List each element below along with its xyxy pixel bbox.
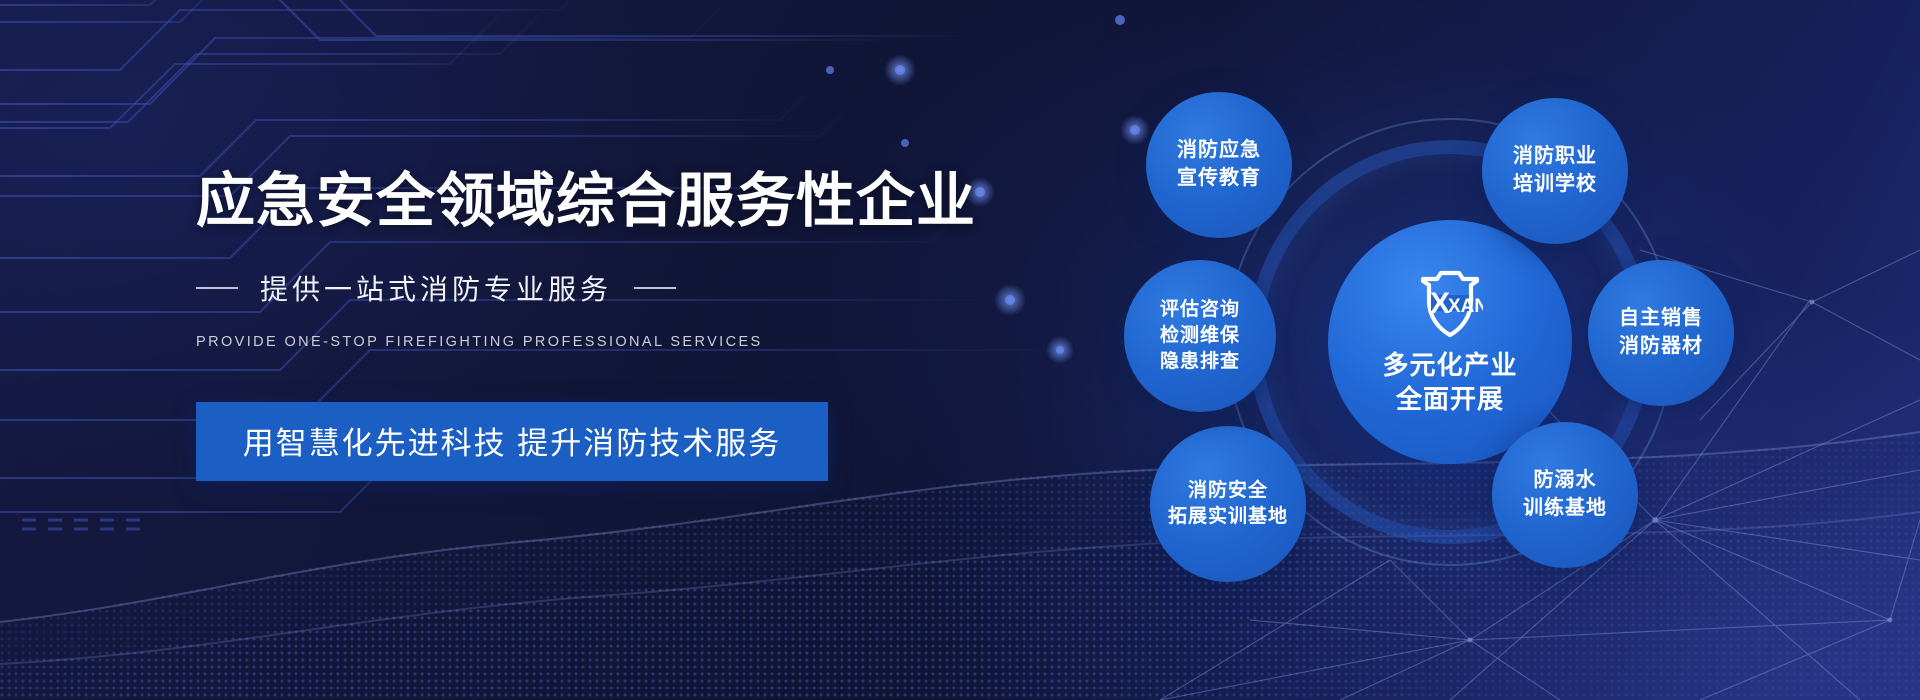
node-line-1: 消防安全: [1188, 478, 1268, 504]
svg-text:XAN: XAN: [1448, 296, 1483, 317]
diagram-node-equipment-sales[interactable]: 自主销售 消防器材: [1588, 260, 1734, 406]
center-line-2: 全面开展: [1396, 383, 1504, 417]
diagram-node-assessment-inspection[interactable]: 评估咨询 检测维保 隐患排查: [1124, 260, 1276, 412]
rule-right-icon: [634, 287, 676, 289]
diagram-node-fire-emergency-education[interactable]: 消防应急 宣传教育: [1146, 92, 1292, 238]
node-line-2: 宣传教育: [1177, 165, 1261, 193]
page-subtitle: 提供一站式消防专业服务: [260, 268, 612, 308]
node-line-1: 消防应急: [1177, 137, 1261, 165]
banner-stage: 应急安全领域综合服务性企业 提供一站式消防专业服务 PROVIDE ONE-ST…: [0, 0, 1920, 700]
node-line-3: 隐患排查: [1160, 349, 1240, 375]
rule-left-icon: [196, 287, 238, 289]
subtitle-row: 提供一站式消防专业服务: [196, 268, 1056, 308]
cta-banner[interactable]: 用智慧化先进科技 提升消防技术服务: [196, 402, 828, 481]
shield-logo-icon: X XAN: [1417, 267, 1483, 339]
cta-label: 用智慧化先进科技 提升消防技术服务: [243, 426, 782, 461]
diagram-node-vocational-training-school[interactable]: 消防职业 培训学校: [1482, 98, 1628, 244]
node-line-1: 评估咨询: [1160, 297, 1240, 323]
diagram-node-drowning-prevention-base[interactable]: 防溺水 训练基地: [1492, 422, 1638, 568]
headline-block: 应急安全领域综合服务性企业 提供一站式消防专业服务 PROVIDE ONE-ST…: [196, 168, 1056, 481]
center-line-1: 多元化产业: [1382, 349, 1517, 383]
node-line-2: 检测维保: [1160, 323, 1240, 349]
node-line-2: 拓展实训基地: [1168, 504, 1288, 530]
business-ecosystem-diagram: X XAN 多元化产业 全面开展 消防应急 宣传教育 消防职业 培训学校 自主销…: [1130, 92, 1770, 612]
node-line-1: 防溺水: [1534, 467, 1597, 495]
node-line-2: 消防器材: [1619, 333, 1703, 361]
node-line-1: 自主销售: [1619, 305, 1703, 333]
svg-text:X: X: [1430, 287, 1450, 320]
english-tagline: PROVIDE ONE-STOP FIREFIGHTING PROFESSION…: [196, 334, 1056, 350]
node-line-2: 培训学校: [1513, 171, 1597, 199]
diagram-node-safety-training-base[interactable]: 消防安全 拓展实训基地: [1150, 426, 1306, 582]
node-line-2: 训练基地: [1523, 495, 1607, 523]
node-line-1: 消防职业: [1513, 143, 1597, 171]
page-title: 应急安全领域综合服务性企业: [196, 168, 1056, 234]
